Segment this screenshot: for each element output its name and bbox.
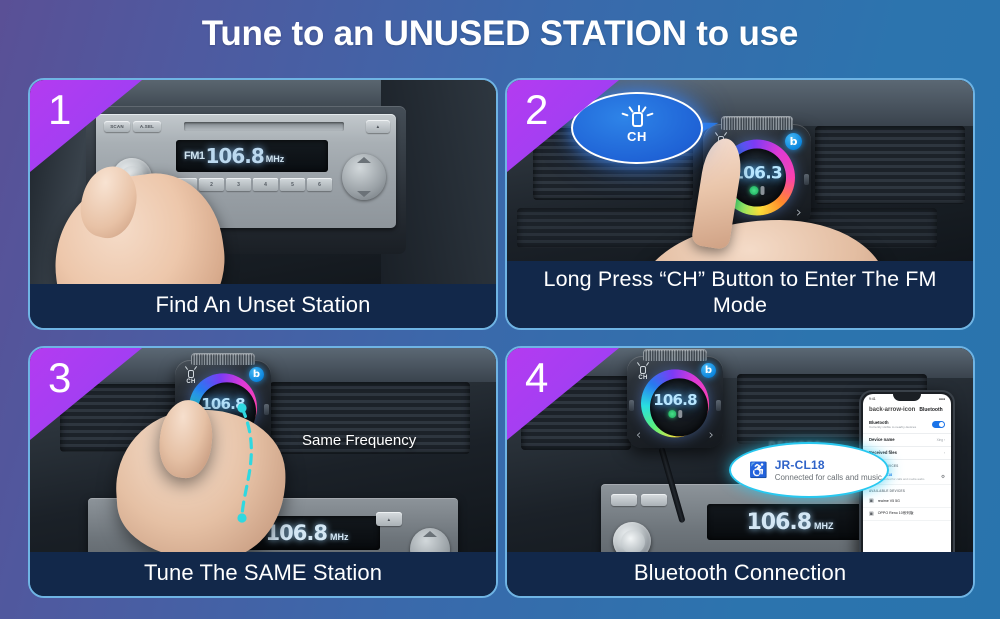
fm-frequency-unit: MHZ	[814, 513, 834, 531]
available-device-row[interactable]: ▣ OPPO Reno 10系列版	[863, 508, 951, 521]
phone-device-icon: ▣	[869, 498, 874, 504]
stereo-lcd-display: 106.8 MHZ	[707, 504, 873, 540]
device-side-button-right[interactable]	[804, 174, 809, 185]
fm-frequency-value: 106.8	[746, 510, 811, 535]
phone-icon	[750, 186, 759, 195]
ch-button-label: CH	[186, 379, 195, 385]
speaker-grill	[721, 117, 793, 130]
device-frequency-display: 106.8	[653, 391, 696, 409]
step-3-photo: CH b 106.8 ‹ › 106.8 MHz ▲	[30, 348, 496, 552]
phone-device-icon: ▣	[869, 511, 874, 517]
air-vent-left	[521, 376, 631, 450]
next-button[interactable]: ›	[796, 205, 802, 220]
step-2-caption: Long Press “CH” Button to Enter The FM M…	[507, 261, 973, 328]
volume-knob	[613, 522, 651, 552]
microphone-icon	[761, 186, 765, 195]
ray	[646, 112, 653, 116]
eject-button: ▲	[376, 512, 402, 526]
row-sublabel: Currently visible to nearby devices	[869, 425, 916, 429]
steps-grid: SCAN A.SEL ▲ FM1 106.8 MHz 1 2 3 4 5 6	[28, 78, 975, 605]
available-device-name: realme V5 5G	[878, 499, 900, 503]
prev-button[interactable]: ‹	[636, 429, 641, 442]
bluetooth-connected-callout: ♿ JR-CL18 Connected for calls and music	[729, 442, 889, 498]
microphone-icon	[678, 410, 682, 418]
step-panel-4: CH b 106.8 ‹ › DEVICES 106.8 MHZ	[505, 346, 975, 598]
bluetooth-badge-icon: b	[785, 133, 802, 150]
call-status-icons	[668, 410, 682, 418]
available-device-row[interactable]: ▣ realme V5 5G	[863, 495, 951, 508]
status-time: 9:41	[869, 397, 876, 401]
bluetooth-badge-icon: b	[249, 367, 264, 382]
ray	[638, 105, 640, 112]
ray	[628, 106, 634, 113]
step-4-caption: Bluetooth Connection	[507, 552, 973, 596]
speaker-grill	[643, 350, 707, 361]
step-panel-1: SCAN A.SEL ▲ FM1 106.8 MHz 1 2 3 4 5 6	[28, 78, 498, 330]
preset-button: 5	[280, 178, 305, 191]
row-value: Xing ›	[937, 438, 945, 442]
ch-button[interactable]: CH	[633, 362, 653, 384]
ch-lamp-icon	[188, 370, 194, 378]
seek-up-icon	[357, 157, 371, 163]
device-side-button-right[interactable]	[716, 400, 721, 411]
bluetooth-toggle[interactable]	[932, 421, 945, 428]
callout-device-status: Connected for calls and music	[775, 473, 882, 482]
asel-button	[641, 494, 667, 506]
step-1-caption: Find An Unset Station	[30, 284, 496, 328]
fm-frequency-unit: MHz	[266, 149, 285, 164]
fm-frequency-value: 106.8	[266, 521, 327, 545]
row-value: ›	[944, 451, 945, 455]
fm-transmitter-device: CH b 106.8 ‹ ›	[627, 356, 723, 448]
preset-button: 4	[253, 178, 278, 191]
preset-button: 6	[307, 178, 332, 191]
phone-setting-row[interactable]: Device name Xing ›	[863, 434, 951, 447]
scan-button: SCAN	[104, 121, 130, 132]
same-frequency-label: Same Frequency	[302, 432, 416, 449]
seek-up-icon	[423, 531, 437, 537]
phone-setting-row[interactable]: Bluetooth Currently visible to nearby de…	[863, 416, 951, 434]
stereo-lcd-display: FM1 106.8 MHz	[176, 140, 328, 172]
step-4-photo: CH b 106.8 ‹ › DEVICES 106.8 MHZ	[507, 348, 973, 552]
row-label: Device name	[869, 437, 895, 442]
callout-label: CH	[627, 129, 647, 144]
preset-button: 2	[199, 178, 224, 191]
air-vent-right	[815, 126, 965, 204]
available-section-title: Available devices	[863, 485, 951, 495]
phone-notch	[893, 394, 921, 401]
available-device-name: OPPO Reno 10系列版	[878, 511, 914, 516]
eject-button: ▲	[366, 120, 390, 133]
device-side-button-left[interactable]	[629, 400, 634, 411]
speaker-grill	[191, 354, 255, 365]
phone-icon	[668, 410, 676, 418]
glowing-button-icon	[632, 112, 643, 127]
step-2-photo: CH b 106.3 ‹ ›	[507, 80, 973, 261]
status-icons: ●●●	[939, 397, 945, 401]
ch-button[interactable]: CH	[181, 366, 201, 388]
ray	[621, 112, 628, 116]
seek-down-icon	[357, 191, 371, 197]
call-status-icons	[750, 186, 765, 195]
step-panel-2: CH b 106.3 ‹ ›	[505, 78, 975, 330]
step-3-caption: Tune The SAME Station	[30, 552, 496, 596]
ch-lamp-icon	[640, 366, 646, 374]
fm-band-label: FM1	[184, 150, 205, 162]
headphone-icon: ♿	[749, 463, 768, 478]
device-side-button-right[interactable]	[264, 404, 269, 415]
tune-seek-pad	[342, 154, 386, 200]
back-arrow-icon[interactable]: back-arrow-icon	[869, 407, 915, 413]
phone-header-title: Bluetooth	[919, 407, 942, 413]
fm-frequency-unit: MHz	[330, 525, 349, 542]
next-button[interactable]: ›	[709, 429, 714, 442]
bluetooth-badge-icon: b	[701, 363, 716, 378]
phone-status-bar: 9:41 ●●●	[863, 394, 951, 403]
step-1-photo: SCAN A.SEL ▲ FM1 106.8 MHz 1 2 3 4 5 6	[30, 80, 496, 284]
callout-device-name: JR-CL18	[775, 458, 882, 472]
page-title: Tune to an UNUSED STATION to use	[0, 14, 1000, 54]
fm-frequency-value: 106.8	[206, 144, 264, 168]
cd-slot	[184, 122, 344, 131]
phone-bluetooth-header: back-arrow-icon Bluetooth	[863, 403, 951, 416]
gear-icon[interactable]: ⚙	[941, 474, 945, 480]
ch-button-label: CH	[638, 375, 647, 381]
ray	[641, 106, 647, 113]
ch-button-callout: CH	[571, 92, 703, 164]
scan-button	[611, 494, 637, 506]
asel-button: A.SEL	[133, 121, 161, 132]
tune-seek-pad	[410, 528, 450, 552]
row-label: Bluetooth	[869, 420, 916, 425]
step-panel-3: CH b 106.8 ‹ › 106.8 MHz ▲	[28, 346, 498, 598]
preset-button: 3	[226, 178, 251, 191]
